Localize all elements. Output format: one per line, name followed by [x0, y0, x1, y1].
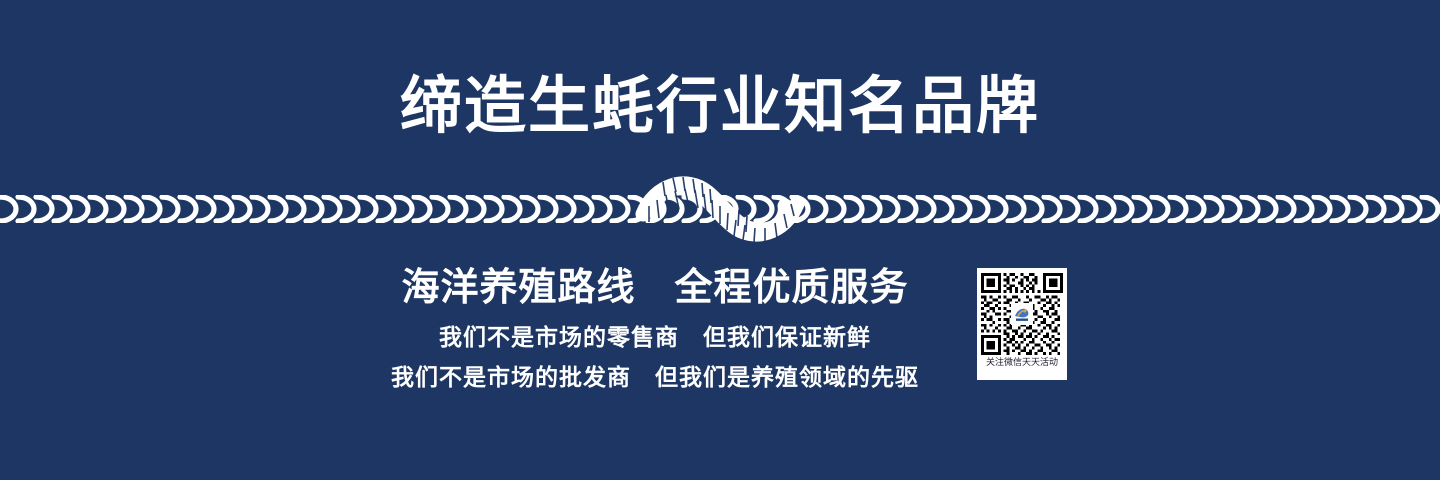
- body-line: 我们不是市场的批发商 但我们是养殖领域的先驱: [0, 358, 1310, 398]
- body-line: 我们不是市场的零售商 但我们保证新鲜: [0, 318, 1310, 358]
- qr-caption: 关注微信天天活动: [986, 357, 1058, 369]
- qr-code-icon[interactable]: [981, 273, 1063, 355]
- page-title: 缔造生蚝行业知名品牌: [0, 72, 1440, 140]
- qr-card[interactable]: 关注微信天天活动: [977, 268, 1067, 380]
- promo-banner: 缔造生蚝行业知名品牌: [0, 0, 1440, 480]
- subheading: 海洋养殖路线 全程优质服务: [0, 264, 1440, 310]
- body-text: 我们不是市场的零售商 但我们保证新鲜 我们不是市场的批发商 但我们是养殖领域的先…: [0, 318, 1440, 398]
- rope-knot-icon: [635, 168, 805, 250]
- brand-logo-icon: [1011, 303, 1033, 325]
- rope-divider: [0, 168, 1440, 250]
